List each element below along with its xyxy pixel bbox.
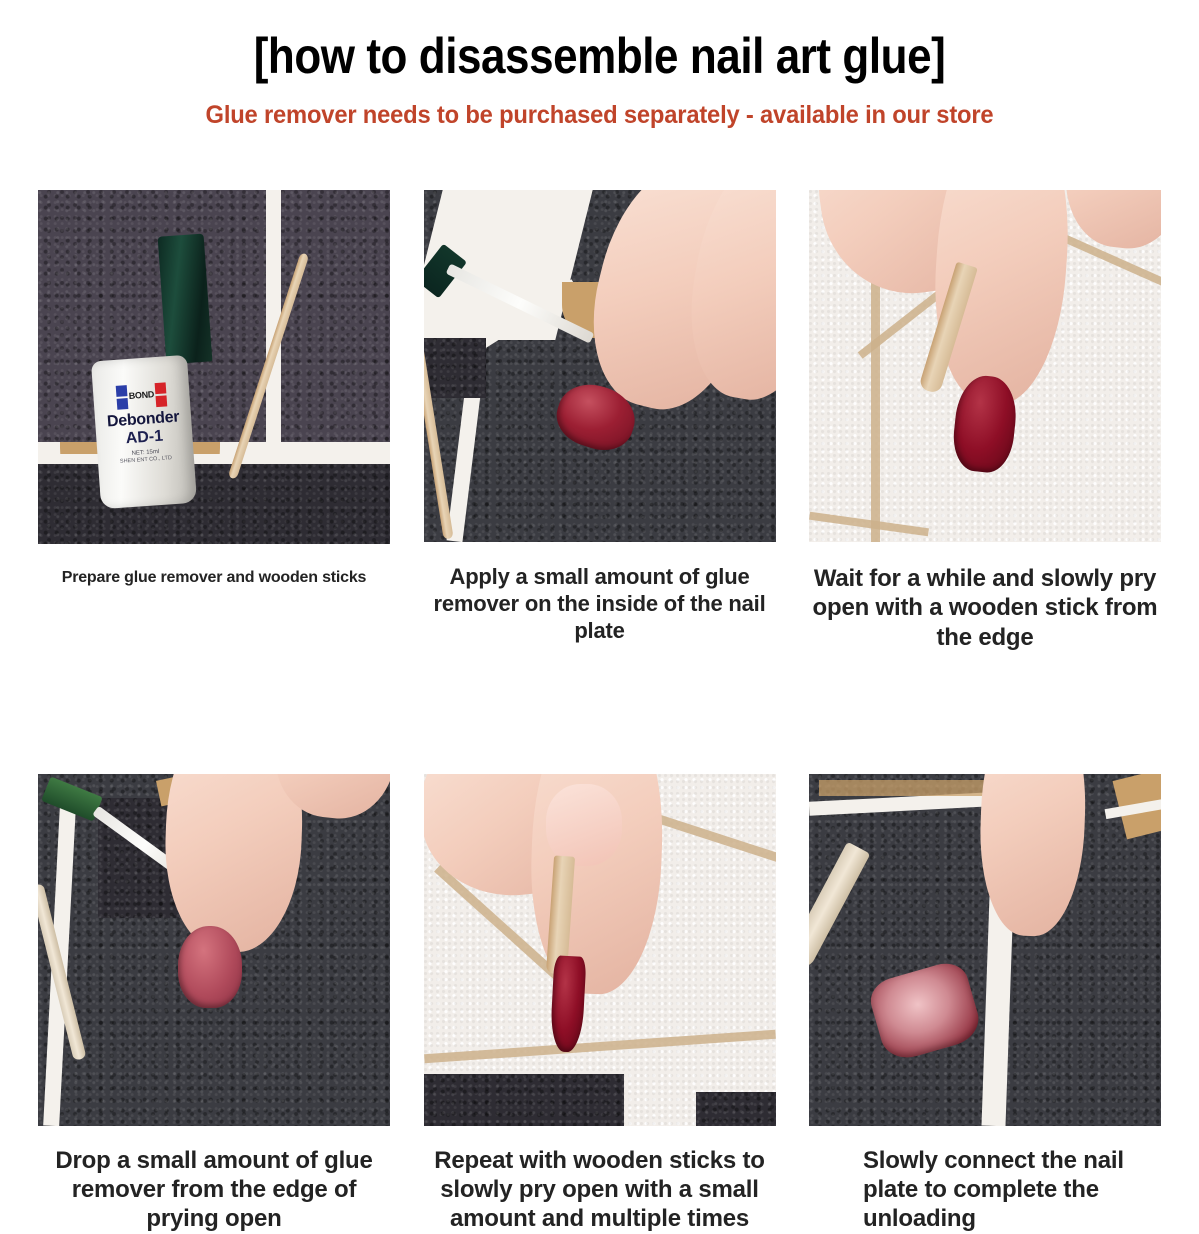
step-photo-1: BOND Debonder AD-1 NET: 15ml SHEN ENT CO…: [38, 190, 390, 544]
logo-square-red-2: [155, 395, 167, 407]
white-divider-bottom: [38, 454, 390, 464]
tan-stripe-vertical: [871, 280, 880, 542]
step-cell-1: BOND Debonder AD-1 NET: 15ml SHEN ENT CO…: [36, 190, 392, 652]
step-photo-5: [424, 774, 776, 1126]
logo-square-blue-2: [117, 398, 129, 410]
step-cell-3: Wait for a while and slowly pry open wit…: [807, 190, 1163, 652]
brand-text: BOND: [129, 390, 155, 401]
steps-row-bottom: Drop a small amount of glue remover from…: [0, 774, 1199, 1234]
step-caption-5: Repeat with wooden sticks to slowly pry …: [422, 1146, 778, 1234]
natural-nail: [546, 784, 622, 866]
step-caption-6: Slowly connect the nail plate to complet…: [807, 1146, 1163, 1234]
step-cell-6: Slowly connect the nail plate to complet…: [807, 774, 1163, 1234]
bottle-label: BOND Debonder AD-1 NET: 15ml SHEN ENT CO…: [97, 381, 190, 467]
logo-square-blue: [116, 385, 128, 397]
step-caption-1: Prepare glue remover and wooden sticks: [36, 568, 392, 588]
logo-square-red: [154, 382, 166, 394]
page-title: [how to disassemble nail art glue]: [72, 30, 1127, 83]
step-cell-5: Repeat with wooden sticks to slowly pry …: [422, 774, 778, 1234]
steps-row-top: BOND Debonder AD-1 NET: 15ml SHEN ENT CO…: [0, 190, 1199, 652]
step-photo-6: [809, 774, 1161, 1126]
dark-patch-left: [424, 338, 486, 398]
step-photo-3: [809, 190, 1161, 542]
step-caption-2: Apply a small amount of glue remover on …: [422, 564, 778, 644]
dark-patch-bottom-left: [424, 1074, 624, 1126]
brand-logo: BOND: [97, 381, 186, 411]
steps-grid: BOND Debonder AD-1 NET: 15ml SHEN ENT CO…: [0, 190, 1199, 1234]
bottle-cap: [158, 234, 213, 365]
step-caption-4: Drop a small amount of glue remover from…: [36, 1146, 392, 1234]
page-subtitle: Glue remover needs to be purchased separ…: [30, 101, 1169, 130]
tan-stripe-top: [819, 780, 1009, 796]
step-photo-4: [38, 774, 390, 1126]
step-caption-3: Wait for a while and slowly pry open wit…: [807, 564, 1163, 652]
step-cell-4: Drop a small amount of glue remover from…: [36, 774, 392, 1234]
dark-patch-bottom-right: [696, 1092, 776, 1126]
dark-lower-panel: [38, 460, 390, 544]
step-photo-2: [424, 190, 776, 542]
step-cell-2: Apply a small amount of glue remover on …: [422, 190, 778, 652]
red-nail: [178, 926, 242, 1008]
page-header: [how to disassemble nail art glue] Glue …: [0, 0, 1199, 130]
glue-remover-bottle: BOND Debonder AD-1 NET: 15ml SHEN ENT CO…: [91, 355, 197, 509]
